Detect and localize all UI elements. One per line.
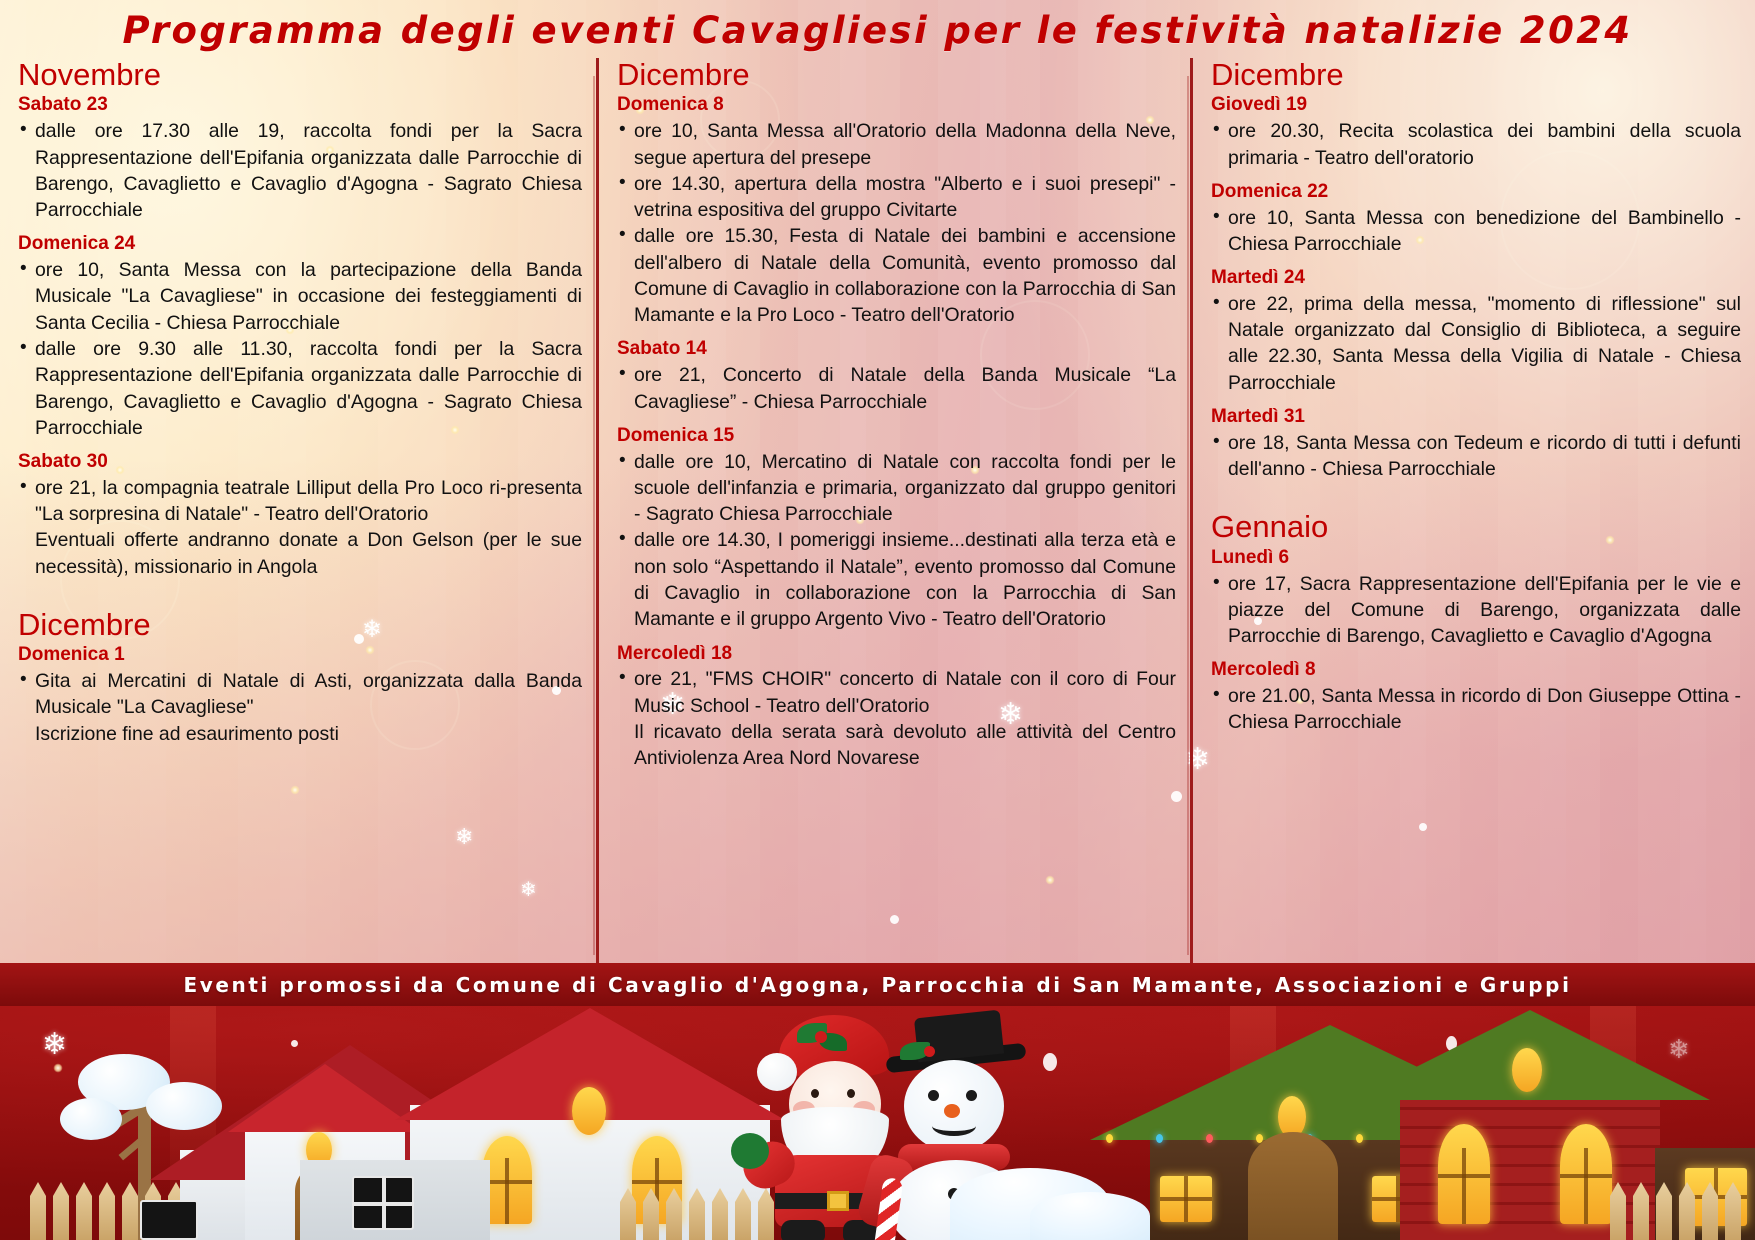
- holly-berry-icon: [815, 1031, 827, 1043]
- event-note: Eventuali offerte andranno donate a Don …: [18, 527, 582, 580]
- window-mullion: [1560, 1174, 1612, 1178]
- day-heading: Domenica 22: [1211, 180, 1741, 204]
- event-list: ore 20.30, Recita scolastica dei bambini…: [1211, 118, 1741, 171]
- event-list: dalle ore 17.30 alle 19, raccolta fondi …: [18, 118, 582, 223]
- month-heading: Dicembre: [617, 58, 1176, 91]
- day-heading: Sabato 30: [18, 450, 582, 474]
- holly-berry-icon: [924, 1046, 935, 1057]
- event-text: ore 17, Sacra Rappresentazione dell'Epif…: [1228, 571, 1741, 650]
- light-bulb: [1206, 1134, 1213, 1143]
- event-item: ore 17, Sacra Rappresentazione dell'Epif…: [1211, 571, 1741, 650]
- event-item: ore 14.30, apertura della mostra "Albert…: [617, 171, 1176, 224]
- event-text: Eventuali offerte andranno donate a Don …: [35, 527, 582, 580]
- fence-picket: [689, 1188, 705, 1240]
- event-item: ore 22, prima della messa, "momento di r…: [1211, 291, 1741, 396]
- event-text: ore 18, Santa Messa con Tedeum e ricordo…: [1228, 430, 1741, 483]
- fence-picket: [1656, 1182, 1672, 1240]
- event-list: ore 22, prima della messa, "momento di r…: [1211, 291, 1741, 396]
- event-item: ore 10, Santa Messa all'Oratorio della M…: [617, 118, 1176, 171]
- window-mullion: [1462, 1148, 1466, 1224]
- snowman-eye: [928, 1090, 939, 1101]
- fence-picket: [1702, 1182, 1718, 1240]
- event-text: ore 21, Concerto di Natale della Banda M…: [634, 362, 1176, 415]
- event-note: Iscrizione fine ad esaurimento posti: [18, 721, 582, 747]
- event-item: ore 21, "FMS CHOIR" concerto di Natale c…: [617, 666, 1176, 719]
- gray-house: [300, 1150, 490, 1240]
- day-heading: Domenica 24: [18, 232, 582, 256]
- event-item: ore 20.30, Recita scolastica dei bambini…: [1211, 118, 1741, 171]
- month-heading: Dicembre: [1211, 58, 1741, 91]
- window-mullion: [1160, 1197, 1212, 1201]
- event-item: dalle ore 9.30 alle 11.30, raccolta fond…: [18, 336, 582, 441]
- event-list: ore 21.00, Santa Messa in ricordo di Don…: [1211, 683, 1741, 736]
- day-heading: Giovedì 19: [1211, 93, 1741, 117]
- event-text: ore 21.00, Santa Messa in ricordo di Don…: [1228, 683, 1741, 736]
- light-bulb: [1356, 1134, 1363, 1143]
- day-heading: Lunedì 6: [1211, 546, 1741, 570]
- day-heading: Mercoledì 18: [617, 642, 1176, 666]
- event-text: ore 10, Santa Messa con la partecipazion…: [35, 257, 582, 336]
- tree-snow-cap: [60, 1098, 122, 1140]
- poster-header: Programma degli eventi Cavagliesi per le…: [0, 0, 1755, 60]
- window-mullion: [354, 1202, 412, 1206]
- event-list: ore 10, Santa Messa con la partecipazion…: [18, 257, 582, 441]
- window-mullion: [1438, 1174, 1490, 1178]
- window-mullion: [505, 1158, 509, 1224]
- event-list: Gita ai Mercatini di Natale di Asti, org…: [18, 668, 582, 747]
- house-window: [572, 1087, 606, 1135]
- events-columns: Novembre Sabato 23 dalle ore 17.30 alle …: [0, 58, 1755, 963]
- event-text: ore 21, "FMS CHOIR" concerto di Natale c…: [634, 666, 1176, 719]
- day-heading: Martedì 31: [1211, 405, 1741, 429]
- fence-picket: [1610, 1182, 1626, 1240]
- fence-picket: [666, 1188, 682, 1240]
- event-note: Il ricavato della serata sarà devoluto a…: [617, 719, 1176, 772]
- day-heading: Domenica 15: [617, 424, 1176, 448]
- house-door: [1248, 1132, 1338, 1240]
- day-heading: Mercoledì 8: [1211, 658, 1741, 682]
- event-text: dalle ore 9.30 alle 11.30, raccolta fond…: [35, 336, 582, 441]
- day-heading: Domenica 1: [18, 643, 582, 667]
- event-text: dalle ore 15.30, Festa di Natale dei bam…: [634, 223, 1176, 328]
- page-title: Programma degli eventi Cavagliesi per le…: [122, 9, 1632, 52]
- fence-picket: [1633, 1182, 1649, 1240]
- event-item: ore 21.00, Santa Messa in ricordo di Don…: [1211, 683, 1741, 736]
- poster-canvas: ❄ ❄ ❄ ❄ ❄ ❄ Programma degli eventi Cavag…: [0, 0, 1755, 1240]
- event-item: dalle ore 17.30 alle 19, raccolta fondi …: [18, 118, 582, 223]
- events-column-2: Dicembre Domenica 8 ore 10, Santa Messa …: [596, 58, 1190, 963]
- event-text: Il ricavato della serata sarà devoluto a…: [634, 719, 1176, 772]
- santa-mitten: [731, 1133, 769, 1169]
- christmas-village-illustration: ❄ ❄: [0, 1006, 1755, 1240]
- event-list: ore 17, Sacra Rappresentazione dell'Epif…: [1211, 571, 1741, 650]
- fence-picket: [620, 1188, 636, 1240]
- footer-banner: Eventi promossi da Comune di Cavaglio d'…: [0, 963, 1755, 1006]
- event-item: ore 21, la compagnia teatrale Lilliput d…: [18, 475, 582, 528]
- fence-picket: [712, 1188, 728, 1240]
- day-heading: Sabato 14: [617, 337, 1176, 361]
- event-item: ore 10, Santa Messa con benedizione del …: [1211, 205, 1741, 258]
- santa-eye: [847, 1089, 855, 1098]
- picket-fence: [1610, 1178, 1741, 1240]
- event-item: ore 10, Santa Messa con la partecipazion…: [18, 257, 582, 336]
- santa-buckle: [827, 1191, 849, 1211]
- fence-picket: [53, 1182, 69, 1240]
- event-list: ore 21, Concerto di Natale della Banda M…: [617, 362, 1176, 415]
- fence-picket: [122, 1182, 138, 1240]
- event-text: dalle ore 14.30, I pomeriggi insieme...d…: [634, 527, 1176, 632]
- window-mullion: [1584, 1148, 1588, 1224]
- house-window: [1560, 1124, 1612, 1224]
- fence-picket: [30, 1182, 46, 1240]
- event-item: dalle ore 10, Mercatino di Natale con ra…: [617, 449, 1176, 528]
- event-item: dalle ore 14.30, I pomeriggi insieme...d…: [617, 527, 1176, 632]
- event-item: dalle ore 15.30, Festa di Natale dei bam…: [617, 223, 1176, 328]
- event-list: dalle ore 10, Mercatino di Natale con ra…: [617, 449, 1176, 633]
- light-bulb: [1106, 1134, 1113, 1143]
- house-window: [140, 1200, 198, 1240]
- day-heading: Domenica 8: [617, 93, 1176, 117]
- event-text: ore 10, Santa Messa all'Oratorio della M…: [634, 118, 1176, 171]
- snowman-smile: [932, 1116, 976, 1136]
- house-window: [352, 1176, 414, 1230]
- fence-picket: [1679, 1182, 1695, 1240]
- events-column-3: Dicembre Giovedì 19 ore 20.30, Recita sc…: [1190, 58, 1755, 963]
- house-window: [1438, 1124, 1490, 1224]
- fence-picket: [1725, 1182, 1741, 1240]
- fence-picket: [99, 1182, 115, 1240]
- santa-boot: [781, 1220, 825, 1240]
- santa-eye: [811, 1089, 819, 1098]
- event-item: Gita ai Mercatini di Natale di Asti, org…: [18, 668, 582, 721]
- event-text: dalle ore 10, Mercatino di Natale con ra…: [634, 449, 1176, 528]
- event-list: ore 10, Santa Messa all'Oratorio della M…: [617, 118, 1176, 328]
- fence-picket: [76, 1182, 92, 1240]
- event-text: ore 14.30, apertura della mostra "Albert…: [634, 171, 1176, 224]
- events-column-1: Novembre Sabato 23 dalle ore 17.30 alle …: [0, 58, 596, 963]
- event-text: Gita ai Mercatini di Natale di Asti, org…: [35, 668, 582, 721]
- month-heading: Novembre: [18, 58, 582, 91]
- event-list: ore 18, Santa Messa con Tedeum e ricordo…: [1211, 430, 1741, 483]
- house-window: [1512, 1048, 1542, 1092]
- event-text: ore 20.30, Recita scolastica dei bambini…: [1228, 118, 1741, 171]
- event-list: ore 21, "FMS CHOIR" concerto di Natale c…: [617, 666, 1176, 771]
- light-bulb: [1156, 1134, 1163, 1143]
- snowman-eye: [966, 1090, 977, 1101]
- santa-hat-pompom: [757, 1053, 797, 1091]
- event-text: ore 21, la compagnia teatrale Lilliput d…: [35, 475, 582, 528]
- month-heading: Gennaio: [1211, 510, 1741, 543]
- month-heading: Dicembre: [18, 608, 582, 641]
- house-window: [1160, 1176, 1212, 1222]
- event-list: ore 10, Santa Messa con benedizione del …: [1211, 205, 1741, 258]
- event-item: ore 18, Santa Messa con Tedeum e ricordo…: [1211, 430, 1741, 483]
- event-text: ore 22, prima della messa, "momento di r…: [1228, 291, 1741, 396]
- fence-picket: [643, 1188, 659, 1240]
- event-text: ore 10, Santa Messa con benedizione del …: [1228, 205, 1741, 258]
- event-text: dalle ore 17.30 alle 19, raccolta fondi …: [35, 118, 582, 223]
- event-text: Iscrizione fine ad esaurimento posti: [35, 721, 582, 747]
- footer-text: Eventi promossi da Comune di Cavaglio d'…: [183, 973, 1571, 997]
- event-item: ore 21, Concerto di Natale della Banda M…: [617, 362, 1176, 415]
- day-heading: Sabato 23: [18, 93, 582, 117]
- day-heading: Martedì 24: [1211, 266, 1741, 290]
- event-list: ore 21, la compagnia teatrale Lilliput d…: [18, 475, 582, 580]
